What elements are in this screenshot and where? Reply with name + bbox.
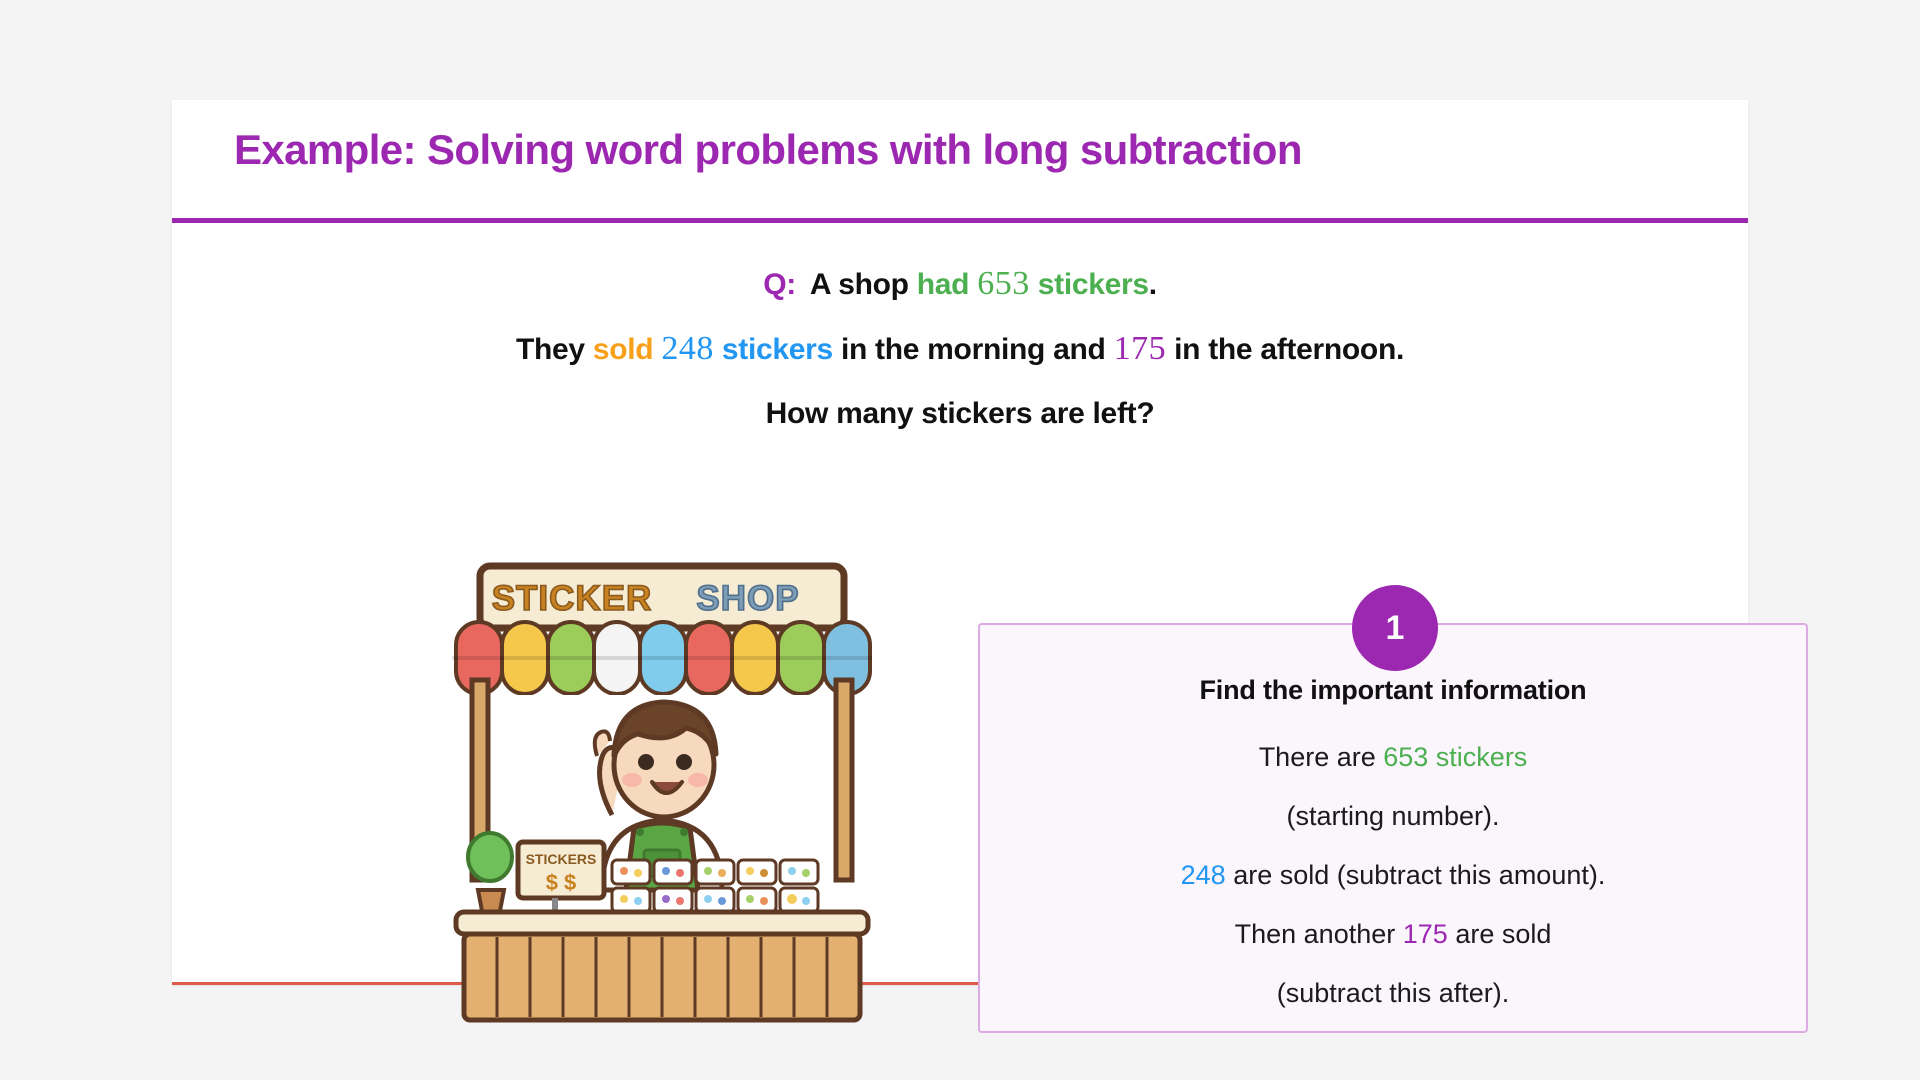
card-heading: Find the important information [980,675,1806,706]
question-they: They [516,333,593,366]
svg-text:STICKERS: STICKERS [526,851,597,867]
card-line-1-pre: There are [1259,742,1384,772]
card-line-4-number: 175 [1403,919,1448,949]
svg-text:STICKER: STICKER [492,579,653,618]
shop-sign: STICKER SHOP [480,566,844,628]
question-stickers-2: stickers [714,333,833,366]
question-number-248: 248 [661,330,714,367]
question-period-1: . [1149,268,1157,301]
card-line-3-number: 248 [1181,860,1226,890]
question-stickers-1: stickers [1030,268,1149,301]
step-badge: 1 [1352,585,1438,671]
slide-container: Example: Solving word problems with long… [172,100,1748,985]
card-line-4-pre: Then another [1235,919,1403,949]
sticker-shop-illustration: STICKER SHOP [452,560,872,1030]
question-number-653: 653 [977,265,1030,302]
price-sign: STICKERS $ $ [518,842,604,916]
question-sold: sold [593,333,662,366]
question-text-a: A shop [810,268,917,301]
step-card: Find the important information There are… [978,623,1808,1033]
question-tail: in the afternoon. [1166,333,1404,366]
card-line-1-number: 653 stickers [1383,742,1527,772]
card-line-4: Then another 175 are sold [980,905,1806,964]
question-line-1: Q:A shop had 653 stickers. [172,252,1748,317]
card-line-1: There are 653 stickers [980,728,1806,787]
question-middle: in the morning and [833,333,1114,366]
page-title: Example: Solving word problems with long… [234,126,1302,174]
card-line-3-post: are sold (subtract this amount). [1226,860,1606,890]
question-label: Q: [763,268,796,301]
question-had: had [917,268,977,301]
card-line-4-post: are sold [1448,919,1552,949]
slide-header: Example: Solving word problems with long… [172,100,1748,223]
svg-text:$ $: $ $ [546,870,577,895]
svg-text:SHOP: SHOP [696,579,799,618]
card-line-2: (starting number). [980,787,1806,846]
question-number-175: 175 [1114,330,1167,367]
shop-counter [456,912,868,1020]
awning [452,622,872,694]
question-line-3: How many stickers are left? [172,382,1748,446]
cactus-plant [468,833,512,916]
card-line-3: 248 are sold (subtract this amount). [980,846,1806,905]
question-line-2: They sold 248 stickers in the morning an… [172,317,1748,382]
question-block: Q:A shop had 653 stickers. They sold 248… [172,252,1748,446]
card-line-5: (subtract this after). [980,964,1806,1023]
